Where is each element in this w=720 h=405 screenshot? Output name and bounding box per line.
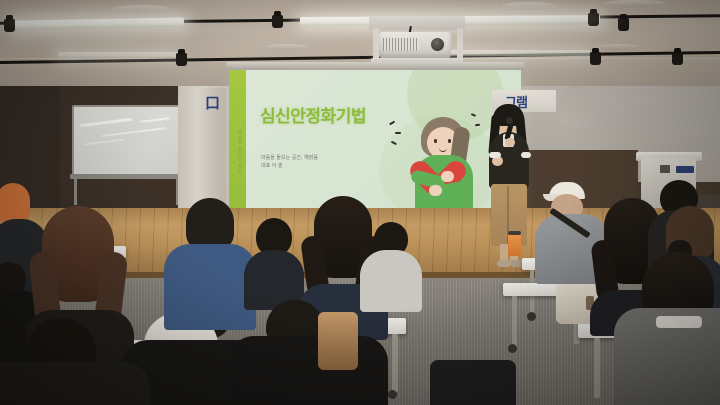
- lectern-label: [676, 166, 694, 173]
- attendee-front-left: [0, 318, 140, 405]
- spot-light: [590, 52, 601, 65]
- spot-light: [176, 53, 187, 66]
- ceiling-vent: [604, 0, 666, 7]
- chair-back: [430, 360, 516, 405]
- projector-mount: [369, 16, 465, 30]
- wall-sign: 口: [205, 95, 224, 113]
- attendee-center-small: [246, 218, 302, 308]
- ceiling-vent: [594, 44, 640, 50]
- fluorescent-tube: [58, 52, 178, 58]
- projector-vent: [383, 38, 419, 51]
- person-hugging-heart-illustration: [407, 115, 479, 222]
- hair: [0, 183, 30, 223]
- tumbler: [508, 233, 521, 256]
- tan-bag: [318, 312, 358, 370]
- whiteboard: [72, 105, 183, 178]
- slide-subtitle-line1: 마음을 돌보는 공간, 해맑음: [261, 154, 318, 162]
- spot-light: [618, 18, 629, 31]
- lectern-monitor: [660, 165, 670, 173]
- attendee-grey-knit: [620, 246, 720, 405]
- slide-subtitle-line2: 대표 이 솔: [261, 162, 283, 170]
- whiteboard-tray: [70, 174, 181, 179]
- ceiling-vent: [265, 44, 309, 50]
- attendee-grey-top: [360, 222, 420, 310]
- spot-light: [272, 15, 283, 28]
- projector-lens: [431, 38, 444, 51]
- lecture-hall-photo: 口 마음을 돌보는 공간 심신안정화기법 마음을 돌보는 공간, 해맑음 대표 …: [0, 0, 720, 405]
- projection-screen-case: [226, 62, 524, 70]
- wall-decoration-circle: [555, 86, 597, 128]
- spot-light: [672, 52, 683, 65]
- attendee-front-center: [232, 300, 382, 405]
- slide-title: 심신안정화기법: [260, 102, 366, 127]
- slide-sidebar-text: 마음을 돌보는 공간: [232, 130, 243, 174]
